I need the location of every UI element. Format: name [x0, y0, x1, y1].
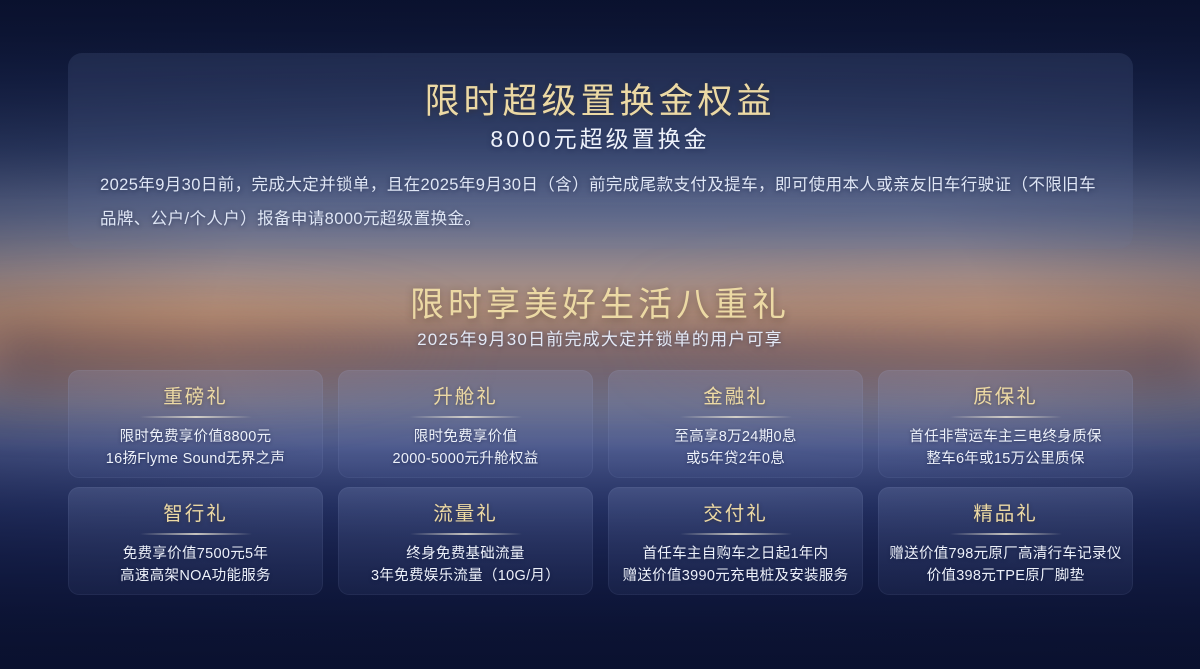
benefit-card-line: 终身免费基础流量 [371, 543, 560, 565]
benefit-card-line: 价值398元TPE原厂脚垫 [889, 565, 1121, 587]
benefit-card-grid: 重磅礼 限时免费享价值8800元 16扬Flyme Sound无界之声 升舱礼 … [68, 370, 1133, 595]
benefit-card-divider [410, 533, 522, 535]
benefit-card-divider [680, 533, 792, 535]
benefit-card[interactable]: 流量礼 终身免费基础流量 3年免费娱乐流量（10G/月） [338, 487, 593, 595]
benefit-card-line: 免费享价值7500元5年 [120, 543, 271, 565]
benefit-card-line: 高速高架NOA功能服务 [120, 565, 271, 587]
benefit-card-title: 智行礼 [163, 497, 228, 526]
benefit-card[interactable]: 重磅礼 限时免费享价值8800元 16扬Flyme Sound无界之声 [68, 370, 323, 478]
benefit-card[interactable]: 交付礼 首任车主自购车之日起1年内 赠送价值3990元充电桩及安装服务 [608, 487, 863, 595]
benefit-card[interactable]: 智行礼 免费享价值7500元5年 高速高架NOA功能服务 [68, 487, 323, 595]
benefit-card-title: 流量礼 [433, 497, 498, 526]
benefit-card-line: 首任非营运车主三电终身质保 [909, 426, 1101, 448]
benefit-card-line: 首任车主自购车之日起1年内 [623, 543, 849, 565]
benefit-card-line: 赠送价值3990元充电桩及安装服务 [623, 565, 849, 587]
promo-poster: 限时超级置换金权益 8000元超级置换金 2025年9月30日前，完成大定并锁单… [0, 0, 1200, 669]
benefit-card-line: 16扬Flyme Sound无界之声 [106, 448, 285, 470]
benefit-card[interactable]: 金融礼 至高享8万24期0息 或5年贷2年0息 [608, 370, 863, 478]
benefit-card-divider [140, 533, 252, 535]
benefit-card-body: 至高享8万24期0息 或5年贷2年0息 [674, 426, 796, 470]
benefit-card-title: 重磅礼 [163, 380, 228, 409]
hero-subtitle: 8000元超级置换金 [0, 120, 1200, 154]
benefit-card-body: 首任非营运车主三电终身质保 整车6年或15万公里质保 [909, 426, 1101, 470]
benefit-card-divider [410, 416, 522, 418]
benefit-card-divider [950, 533, 1062, 535]
benefit-card-line: 赠送价值798元原厂高清行车记录仪 [889, 543, 1121, 565]
benefit-card-divider [950, 416, 1062, 418]
benefit-card-divider [140, 416, 252, 418]
benefit-card-title: 质保礼 [973, 380, 1038, 409]
benefit-card-body: 终身免费基础流量 3年免费娱乐流量（10G/月） [371, 543, 560, 587]
trade-in-terms-text: 2025年9月30日前，完成大定并锁单，且在2025年9月30日（含）前完成尾款… [100, 168, 1100, 236]
benefit-card-body: 首任车主自购车之日起1年内 赠送价值3990元充电桩及安装服务 [623, 543, 849, 587]
benefit-card-line: 整车6年或15万公里质保 [909, 448, 1101, 470]
benefit-card-divider [680, 416, 792, 418]
section-title: 限时享美好生活八重礼 [0, 277, 1200, 326]
benefit-card[interactable]: 升舱礼 限时免费享价值 2000-5000元升舱权益 [338, 370, 593, 478]
benefit-card-body: 免费享价值7500元5年 高速高架NOA功能服务 [120, 543, 271, 587]
benefit-card-line: 限时免费享价值 [392, 426, 538, 448]
benefit-card-body: 限时免费享价值 2000-5000元升舱权益 [392, 426, 538, 470]
section-subtitle: 2025年9月30日前完成大定并锁单的用户可享 [0, 325, 1200, 350]
benefit-card-title: 交付礼 [703, 497, 768, 526]
benefit-card-line: 3年免费娱乐流量（10G/月） [371, 565, 560, 587]
benefit-card-line: 或5年贷2年0息 [674, 448, 796, 470]
benefit-card[interactable]: 质保礼 首任非营运车主三电终身质保 整车6年或15万公里质保 [878, 370, 1133, 478]
benefit-card-line: 2000-5000元升舱权益 [392, 448, 538, 470]
benefit-card-line: 至高享8万24期0息 [674, 426, 796, 448]
hero-title: 限时超级置换金权益 [0, 73, 1200, 124]
benefit-card-title: 金融礼 [703, 380, 768, 409]
benefit-card-title: 精品礼 [973, 497, 1038, 526]
benefit-card-line: 限时免费享价值8800元 [106, 426, 285, 448]
benefit-card[interactable]: 精品礼 赠送价值798元原厂高清行车记录仪 价值398元TPE原厂脚垫 [878, 487, 1133, 595]
benefit-card-body: 限时免费享价值8800元 16扬Flyme Sound无界之声 [106, 426, 285, 470]
benefit-card-body: 赠送价值798元原厂高清行车记录仪 价值398元TPE原厂脚垫 [889, 543, 1121, 587]
benefit-card-title: 升舱礼 [433, 380, 498, 409]
